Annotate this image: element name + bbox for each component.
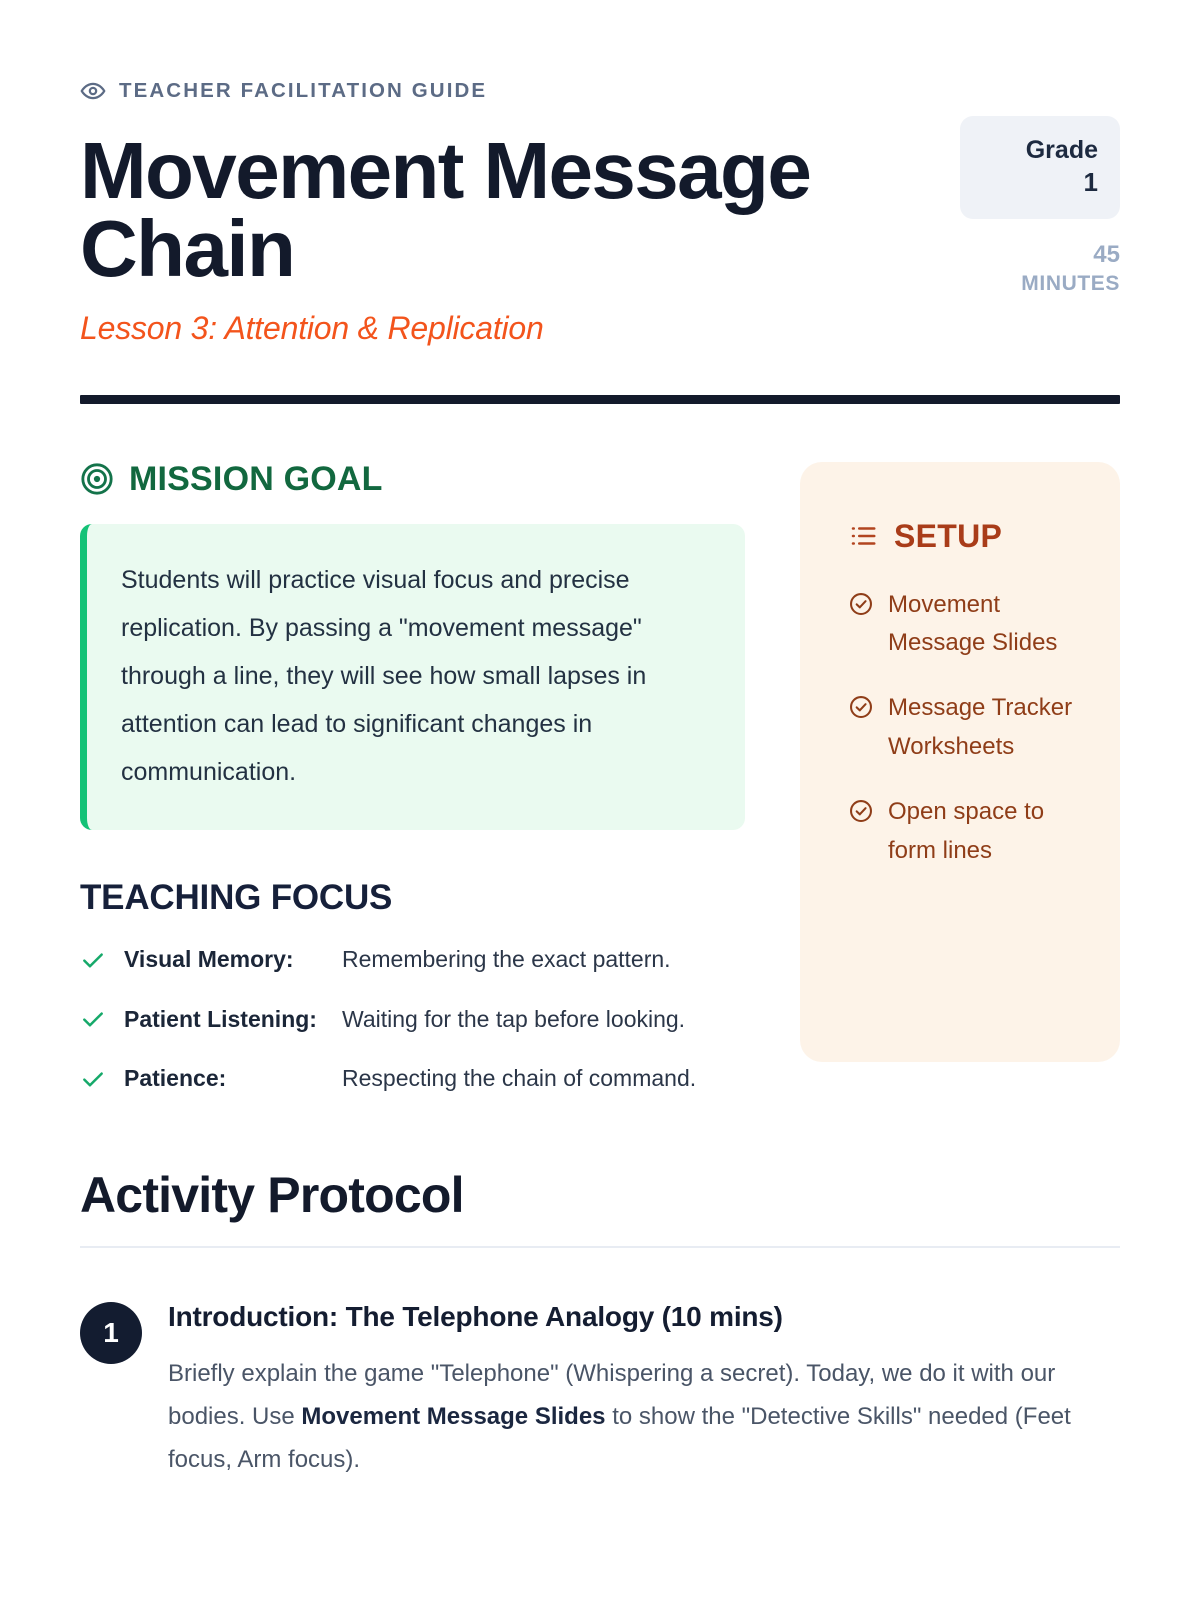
check-icon: [80, 1066, 106, 1092]
grade-value: 1: [982, 166, 1098, 199]
content-columns: MISSION GOAL Students will practice visu…: [80, 462, 1120, 1099]
eye-icon: [80, 78, 106, 104]
duration-unit: MINUTES: [960, 270, 1120, 298]
header-left-block: TEACHER FACILITATION GUIDE Movement Mess…: [80, 78, 940, 348]
step-body: Introduction: The Telephone Analogy (10 …: [168, 1300, 1120, 1481]
document-header: TEACHER FACILITATION GUIDE Movement Mess…: [80, 78, 1120, 348]
teaching-focus-desc: Waiting for the tap before looking.: [342, 1001, 745, 1039]
check-circle-icon: [848, 798, 874, 824]
target-icon: [80, 462, 114, 496]
step-number-badge: 1: [80, 1302, 142, 1364]
check-icon: [80, 1006, 106, 1032]
section-divider: [80, 1246, 1120, 1248]
step-text-emphasis: Movement Message Slides: [301, 1403, 605, 1430]
teaching-focus-item: Patience: Respecting the chain of comman…: [80, 1060, 745, 1098]
duration-block: 45 MINUTES: [960, 241, 1120, 298]
grade-badge: Grade 1: [960, 116, 1120, 219]
teaching-focus-desc: Remembering the exact pattern.: [342, 941, 745, 979]
teaching-focus-term: Visual Memory:: [124, 941, 342, 979]
mission-goal-box: Students will practice visual focus and …: [80, 524, 745, 830]
teaching-focus-term: Patient Listening:: [124, 1001, 342, 1039]
setup-item-label: Message Tracker Worksheets: [888, 689, 1086, 767]
mission-goal-title: MISSION GOAL: [129, 462, 383, 496]
side-column: SETUP Movement Message Slides: [800, 462, 1120, 1062]
teaching-focus-term: Patience:: [124, 1060, 342, 1098]
teaching-focus-item: Patient Listening: Waiting for the tap b…: [80, 1001, 745, 1039]
breadcrumb: TEACHER FACILITATION GUIDE: [80, 78, 940, 104]
duration-value: 45: [960, 241, 1120, 270]
check-icon: [80, 947, 106, 973]
grade-label: Grade: [982, 135, 1098, 166]
setup-card: SETUP Movement Message Slides: [800, 462, 1120, 1062]
list-icon: [848, 521, 878, 551]
setup-item-label: Open space to form lines: [888, 793, 1086, 871]
setup-header: SETUP: [848, 520, 1086, 552]
protocol-step: 1 Introduction: The Telephone Analogy (1…: [80, 1300, 1120, 1481]
header-divider: [80, 395, 1120, 404]
step-description: Briefly explain the game "Telephone" (Wh…: [168, 1352, 1120, 1482]
activity-protocol-title: Activity Protocol: [80, 1170, 1120, 1220]
mission-goal-text: Students will practice visual focus and …: [121, 556, 709, 796]
header-meta-block: Grade 1 45 MINUTES: [960, 78, 1120, 298]
page-subtitle: Lesson 3: Attention & Replication: [80, 309, 940, 347]
check-circle-icon: [848, 694, 874, 720]
teaching-focus-list: Visual Memory: Remembering the exact pat…: [80, 941, 745, 1099]
setup-item-label: Movement Message Slides: [888, 586, 1086, 664]
setup-title: SETUP: [894, 520, 1002, 552]
main-column: MISSION GOAL Students will practice visu…: [80, 462, 745, 1099]
setup-list-item: Movement Message Slides: [848, 586, 1086, 664]
teaching-focus-item: Visual Memory: Remembering the exact pat…: [80, 941, 745, 979]
eyebrow-label: TEACHER FACILITATION GUIDE: [119, 81, 487, 102]
setup-list-item: Message Tracker Worksheets: [848, 689, 1086, 767]
step-title: Introduction: The Telephone Analogy (10 …: [168, 1300, 1120, 1334]
check-circle-icon: [848, 591, 874, 617]
lesson-plan-page: TEACHER FACILITATION GUIDE Movement Mess…: [0, 0, 1200, 1600]
page-title: Movement Message Chain: [80, 132, 940, 287]
mission-goal-header: MISSION GOAL: [80, 462, 745, 496]
activity-protocol-section: Activity Protocol 1 Introduction: The Te…: [80, 1170, 1120, 1481]
setup-list-item: Open space to form lines: [848, 793, 1086, 871]
teaching-focus-title: TEACHING FOCUS: [80, 880, 745, 915]
teaching-focus-desc: Respecting the chain of command.: [342, 1060, 745, 1098]
